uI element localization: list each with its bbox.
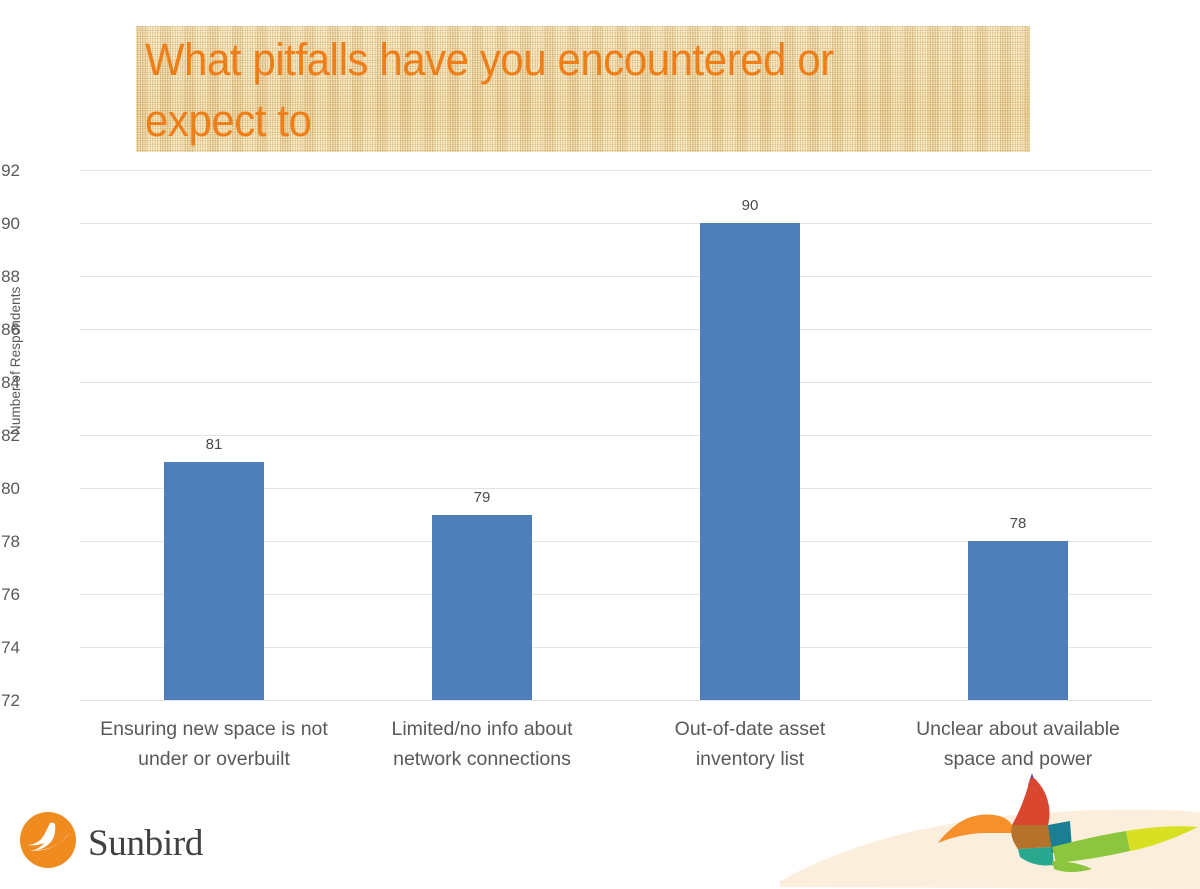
swoosh-shape <box>780 810 1200 889</box>
bird-foot <box>1052 861 1092 872</box>
y-axis-tick-label: 88 <box>0 267 20 287</box>
bar[interactable] <box>968 541 1068 700</box>
y-axis-tick-label: 72 <box>0 691 20 711</box>
x-axis-category-label: Limited/no info about network connection… <box>348 714 616 774</box>
x-axis-category-label: Out-of-date asset inventory list <box>616 714 884 774</box>
gridline <box>80 276 1152 277</box>
sunbird-logo-icon <box>20 812 76 868</box>
bar[interactable] <box>432 515 532 701</box>
bar-value-label: 79 <box>442 489 522 506</box>
y-axis-tick-label: 82 <box>0 426 20 446</box>
bar-value-label: 90 <box>710 197 790 214</box>
gridline <box>80 382 1152 383</box>
bird-tail-yellow <box>1126 826 1198 851</box>
bar-value-label: 78 <box>978 515 1058 532</box>
bird-teal-dark <box>1048 821 1072 853</box>
bar[interactable] <box>700 223 800 700</box>
y-axis-tick-label: 76 <box>0 585 20 605</box>
y-axis-tick-label: 86 <box>0 320 20 340</box>
x-axis-category-label: Ensuring new space is not under or overb… <box>80 714 348 774</box>
bird-head <box>938 814 1049 843</box>
gridline <box>80 170 1152 171</box>
sunbird-wordmark: Sunbird <box>88 822 203 865</box>
y-axis-tick-label: 78 <box>0 532 20 552</box>
y-axis-title: Number of Respondents <box>8 287 23 435</box>
y-axis-tick-label: 80 <box>0 479 20 499</box>
y-axis-tick-label: 74 <box>0 638 20 658</box>
sunbird-logo[interactable]: Sunbird <box>20 812 240 874</box>
bar-chart: Number of Respondents 929088868482807876… <box>0 0 1200 800</box>
x-axis-category-label: Unclear about available space and power <box>884 714 1152 774</box>
gridline <box>80 223 1152 224</box>
gridline <box>80 329 1152 330</box>
y-axis-tick-label: 92 <box>0 161 20 181</box>
bar-value-label: 81 <box>174 436 254 453</box>
gridline <box>80 700 1152 701</box>
y-axis-tick-label: 84 <box>0 373 20 393</box>
bird-body-teal <box>1018 847 1054 866</box>
bar[interactable] <box>164 462 264 701</box>
y-axis-tick-label: 90 <box>0 214 20 234</box>
plot-area: 9290888684828078767472 81799078 <box>80 170 1152 700</box>
bird-tail-green <box>1052 831 1130 863</box>
bird-body-mid <box>1011 825 1052 849</box>
